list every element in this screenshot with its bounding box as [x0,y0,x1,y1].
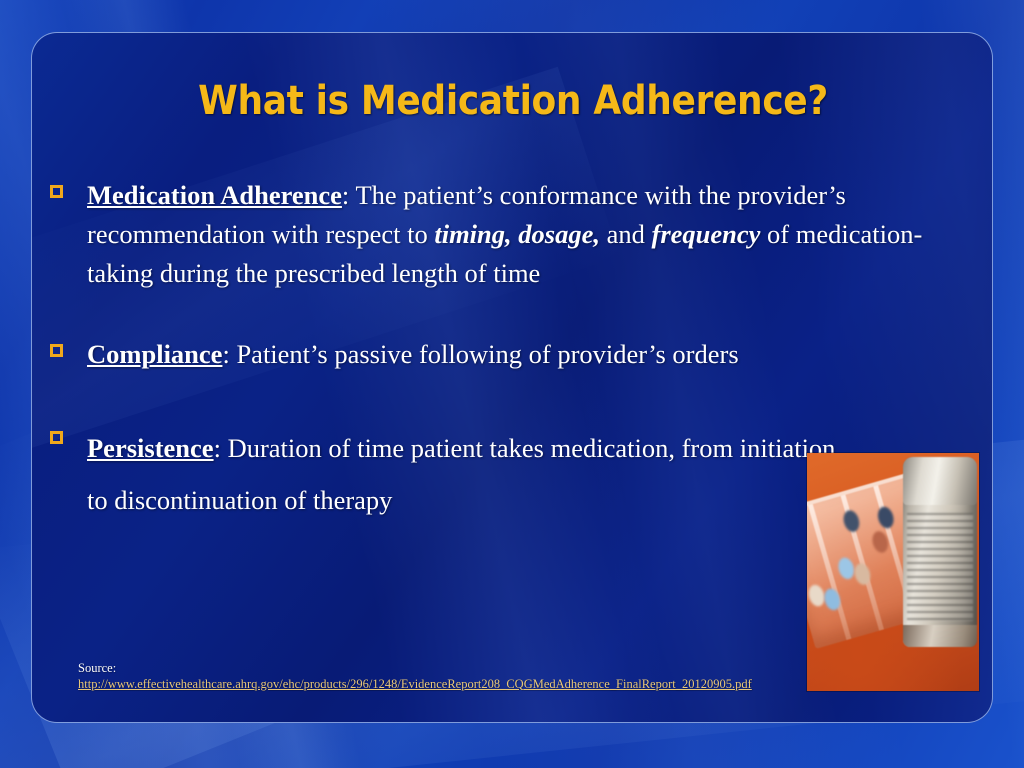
source-url-link[interactable]: http://www.effectivehealthcare.ahrq.gov/… [78,677,878,693]
list-item: Medication Adherence: The patient’s conf… [32,176,993,293]
bottle-base [903,625,977,647]
square-bullet-icon [50,431,63,444]
medication-bottle [903,457,977,647]
body-text-2: and [600,219,652,249]
slide-title: What is Medication Adherence? [80,77,946,125]
source-footnote: Source: http://www.effectivehealthcare.a… [78,661,878,692]
body-text-1: Patient’s passive following of provider’… [230,339,739,369]
slide-content-panel: What is Medication Adherence? Medication… [31,32,993,723]
slide-canvas: What is Medication Adherence? Medication… [0,0,1024,768]
emphasis-2: frequency [652,219,761,249]
list-item-text: Compliance: Patient’s passive following … [87,335,982,374]
square-bullet-icon [50,185,63,198]
list-item-text: Persistence: Duration of time patient ta… [87,422,847,526]
term-label: Medication Adherence [87,180,342,210]
medication-photo [807,453,979,691]
list-item-text: Medication Adherence: The patient’s conf… [87,176,982,293]
square-bullet-icon [50,344,63,357]
emphasis-1: timing, dosage, [434,219,600,249]
source-label: Source: [78,661,116,675]
term-label: Persistence [87,433,214,463]
list-item: Compliance: Patient’s passive following … [32,335,993,374]
bottle-cap [903,457,977,505]
term-colon: : [214,433,221,463]
bottle-label [907,513,973,621]
term-label: Compliance [87,339,222,369]
term-colon: : [222,339,229,369]
